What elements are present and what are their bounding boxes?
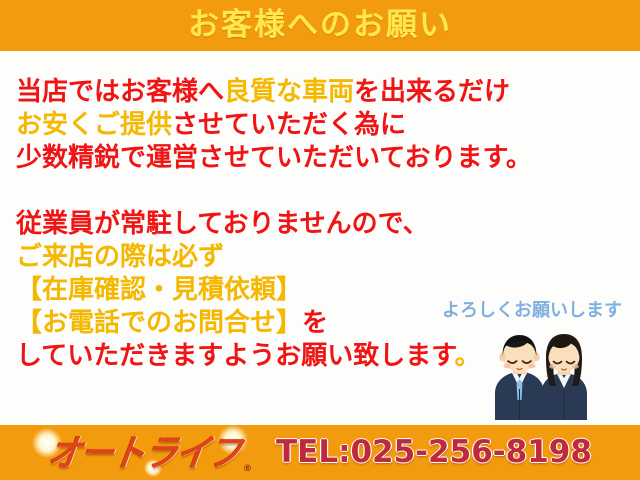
thanks-block: よろしくお願いします	[438, 296, 634, 422]
phone-number: TEL:025-256-8198	[276, 437, 592, 468]
company-logo: オートライフ ®	[36, 431, 254, 475]
page-title: お客様へのお願い	[188, 10, 452, 41]
thanks-message: よろしくお願いします	[438, 296, 634, 322]
text-segment: を出来るだけ	[354, 77, 510, 107]
text-line: 少数精鋭で運営させていただいております。	[16, 142, 576, 175]
text-line: 当店ではお客様へ良質な車両を出来るだけ	[16, 76, 576, 109]
text-segment: 当店ではお客様へ	[16, 77, 224, 107]
bowing-man-icon	[495, 335, 544, 420]
text-segment: 少数精鋭で運営させていただいております。	[16, 143, 532, 173]
footer-bar: オートライフ ® TEL:025-256-8198	[0, 425, 640, 480]
text-segment: 【在庫確認・見積依頼】	[16, 275, 302, 305]
bowing-people-illustration	[482, 330, 600, 422]
header-bar: お客様へのお願い	[0, 0, 640, 51]
text-line: お安くご提供させていただく為に	[16, 109, 576, 142]
text-segment: を	[302, 308, 328, 338]
paragraph-1: 当店ではお客様へ良質な車両を出来るだけ お安くご提供させていただく為に 少数精鋭…	[16, 76, 576, 175]
text-segment: お安くご提供	[16, 110, 172, 140]
text-segment: していただきますようお願い致します	[16, 341, 455, 371]
text-line: ご来店の際は必ず	[16, 241, 576, 274]
text-segment: 良質な車両	[224, 77, 354, 107]
text-line: 従業員が常駐しておりませんので、	[16, 208, 576, 241]
registered-trademark-icon: ®	[243, 464, 252, 474]
text-segment: 【お電話でのお問合せ】	[16, 308, 302, 338]
bowing-woman-icon	[541, 334, 587, 420]
text-segment: ご来店の際は必ず	[16, 242, 224, 272]
paragraph-spacer	[16, 175, 576, 208]
text-segment: 従業員が常駐しておりませんので、	[16, 209, 429, 239]
company-logo-text: オートライフ	[46, 434, 244, 471]
text-segment: させていただく為に	[172, 110, 406, 140]
promotional-banner: お客様へのお願い 当店ではお客様へ良質な車両を出来るだけ お安くご提供させていた…	[0, 0, 640, 480]
